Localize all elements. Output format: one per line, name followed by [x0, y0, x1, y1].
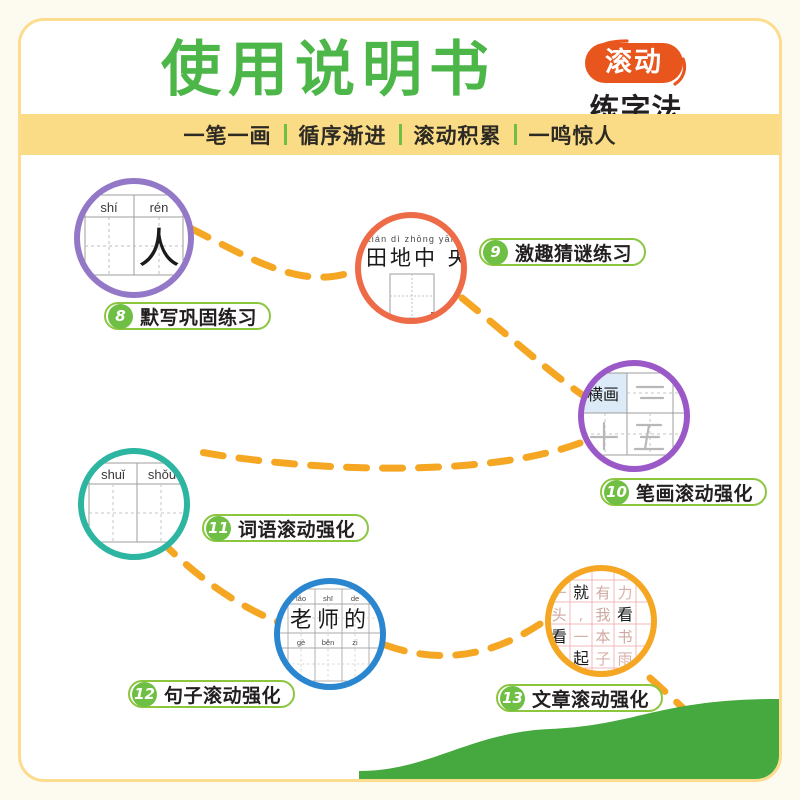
subtitle-bar: 一笔一画 循序渐进 滚动积累 一鸣惊人: [21, 114, 779, 155]
node-13-char-11: 大: [551, 650, 566, 668]
node-13-char-10: 书: [617, 628, 632, 646]
node-13-char-9: 本: [595, 628, 610, 646]
node-12-pinyin-r2-0: wǔ: [279, 638, 280, 647]
node-13-char-3: 头: [551, 606, 566, 624]
node-label-text-9: 激趣猜谜练习: [515, 239, 632, 266]
node-13-char-6: 看: [617, 605, 633, 624]
node-10-stroke-name: 横画: [587, 385, 619, 404]
node-number-12: 12: [132, 682, 157, 707]
subtitle-item-2: 滚动积累: [414, 120, 502, 150]
node-12-worksheet: lǎo shī de 老 师 的 wǔ gè běn zi: [279, 583, 381, 685]
subtitle-item-3: 一鸣惊人: [529, 120, 617, 150]
node-13-char-8: 一: [573, 628, 588, 646]
node-10-worksheet: 横画: [583, 365, 685, 467]
node-circle-9[interactable]: tián dì zhōng yāng 田地中 央。: [355, 212, 467, 324]
node-label-9[interactable]: 9 激趣猜谜练习: [479, 238, 646, 266]
node-12-pinyin-r1-1: shī: [323, 594, 334, 603]
node-8-worksheet: shí rén 人: [79, 183, 189, 293]
node-8-character: 人: [138, 224, 180, 273]
subtitle-item-0: 一笔一画: [184, 120, 272, 150]
subtitle-separator: [399, 124, 402, 145]
page-title: 使用说明书: [161, 39, 496, 101]
node-number-8: 8: [108, 304, 133, 329]
node-11-pinyin-0: shuǐ: [101, 467, 126, 482]
subtitle-item-1: 循序渐进: [299, 120, 387, 150]
logo-badge-text: 滚动: [585, 43, 683, 83]
node-13-char-7: 看: [551, 627, 567, 646]
node-13-char-14: 雨: [617, 650, 632, 668]
subtitle-separator: [284, 124, 287, 145]
node-number-13: 13: [500, 686, 525, 711]
node-13-char-2: 力: [617, 584, 632, 602]
node-9-characters: 田地中 央。: [366, 246, 462, 270]
node-circle-12[interactable]: lǎo shī de 老 师 的 wǔ gè běn zi: [274, 578, 386, 690]
node-label-text-11: 词语滚动强化: [238, 515, 355, 542]
node-label-text-10: 笔画滚动强化: [636, 479, 753, 506]
node-12-char-0: 老: [290, 608, 312, 633]
node-13-worksheet: 一 就 有 力 头 , 我 看 看 一 本 书 大 起 子 雨: [550, 570, 652, 672]
node-circle-8[interactable]: shí rén 人: [74, 178, 194, 298]
node-11-pinyin-1: shǒu: [148, 467, 176, 482]
node-label-text-8: 默写巩固练习: [140, 303, 257, 330]
node-label-13[interactable]: 13 文章滚动强化: [496, 684, 663, 712]
node-circle-10[interactable]: 横画: [578, 360, 690, 472]
node-9-worksheet: tián dì zhōng yāng 田地中 央。: [360, 217, 462, 319]
node-13-char-12: 起: [573, 649, 589, 668]
subtitle-separator: [514, 124, 517, 145]
node-9-pinyin: tián dì zhōng yāng: [368, 234, 462, 244]
node-8-pinyin-1: rén: [150, 200, 169, 215]
node-label-8[interactable]: 8 默写巩固练习: [104, 302, 271, 330]
node-8-pinyin-0: shí: [100, 200, 118, 215]
node-12-pinyin-r1-0: lǎo: [296, 594, 306, 603]
node-label-text-13: 文章滚动强化: [532, 685, 649, 712]
node-12-pinyin-r2-1: gè: [297, 638, 305, 647]
node-number-10: 10: [604, 480, 629, 505]
header: 使用说明书 滚动 练字法: [21, 21, 779, 114]
node-13-char-4: ,: [579, 609, 583, 624]
node-12-pinyin-r2-2: běn: [322, 638, 335, 647]
node-13-char-0: 就: [573, 583, 589, 602]
node-12-char-1: 师: [317, 608, 339, 633]
poster-stage: 使用说明书 滚动 练字法 一笔一画 循序渐进 滚动积累 一鸣惊人: [0, 0, 800, 800]
node-13-char-13: 子: [595, 650, 610, 668]
node-number-9: 9: [483, 240, 508, 265]
node-13-char-5: 我: [595, 606, 610, 624]
node-circle-13[interactable]: 一 就 有 力 头 , 我 看 看 一 本 书 大 起 子 雨: [545, 565, 657, 677]
node-12-char-2: 的: [344, 608, 366, 633]
node-label-10[interactable]: 10 笔画滚动强化: [600, 478, 767, 506]
node-13-char-1: 有: [595, 584, 610, 602]
node-number-11: 11: [206, 516, 231, 541]
node-label-text-12: 句子滚动强化: [164, 681, 281, 708]
node-13-char-bg-0: 一: [551, 584, 566, 602]
node-label-11[interactable]: 11 词语滚动强化: [202, 514, 369, 542]
node-12-pinyin-r2-3: zi: [352, 638, 358, 647]
node-circle-11[interactable]: shuǐ shǒu: [78, 448, 190, 560]
node-label-12[interactable]: 12 句子滚动强化: [128, 680, 295, 708]
node-11-worksheet: shuǐ shǒu: [83, 453, 185, 555]
node-12-pinyin-r1-2: de: [351, 594, 359, 603]
